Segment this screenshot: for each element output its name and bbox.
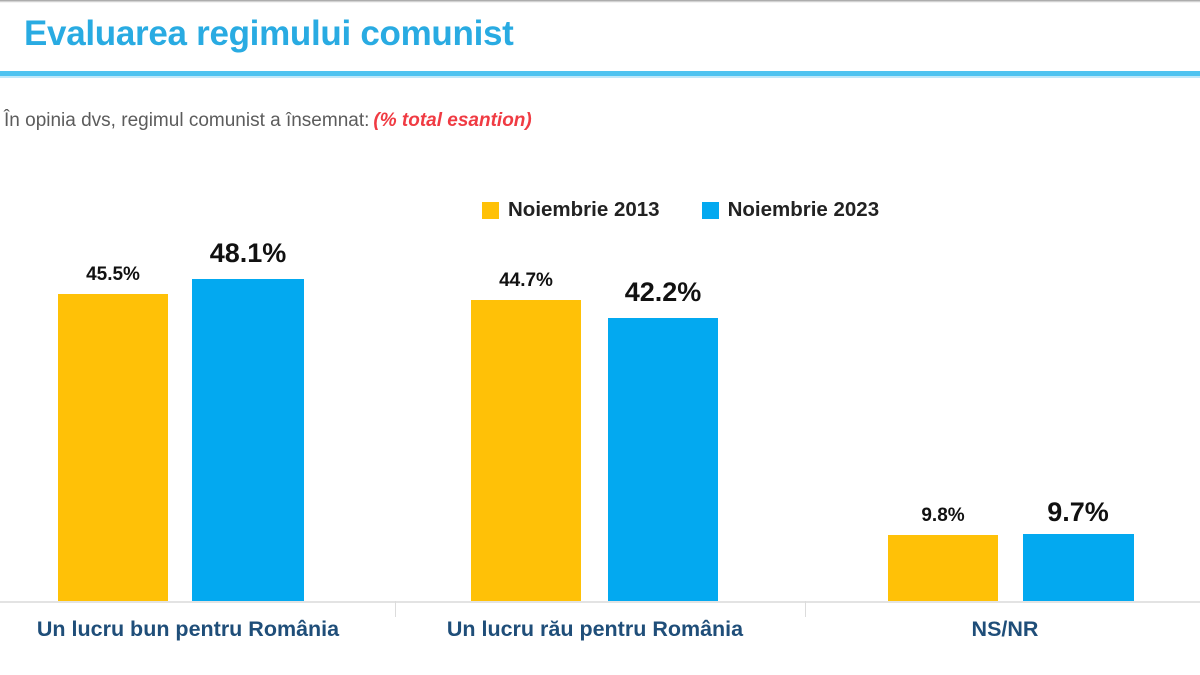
bar-2023-un-lucru-rau[interactable]: [608, 318, 718, 601]
category-label-un-lucru-bun: Un lucru bun pentru România: [0, 617, 383, 642]
bar-value-2013-ns-nr: 9.8%: [888, 505, 998, 527]
category-label-ns-nr: NS/NR: [815, 617, 1195, 642]
bar-chart-plot-area: 45.5% 48.1% 44.7% 42.2% 9.8% 9.7% Un luc…: [0, 0, 1200, 675]
category-label-un-lucru-rau: Un lucru rău pentru România: [400, 617, 790, 642]
bar-2023-ns-nr[interactable]: [1023, 534, 1134, 601]
bar-value-2023-ns-nr: 9.7%: [1018, 497, 1138, 528]
slide-canvas: Evaluarea regimului comunist În opinia d…: [0, 0, 1200, 675]
bar-2013-un-lucru-rau[interactable]: [471, 300, 581, 601]
group-separator-tick-2: [805, 601, 806, 617]
chart-baseline-axis: [0, 601, 1200, 603]
bar-value-2013-un-lucru-bun: 45.5%: [58, 264, 168, 286]
bar-value-2013-un-lucru-rau: 44.7%: [471, 270, 581, 292]
bar-value-2023-un-lucru-rau: 42.2%: [603, 277, 723, 308]
bar-2023-un-lucru-bun[interactable]: [192, 279, 304, 601]
bar-2013-un-lucru-bun[interactable]: [58, 294, 168, 601]
bar-value-2023-un-lucru-bun: 48.1%: [188, 238, 308, 269]
bar-2013-ns-nr[interactable]: [888, 535, 998, 601]
group-separator-tick-1: [395, 601, 396, 617]
